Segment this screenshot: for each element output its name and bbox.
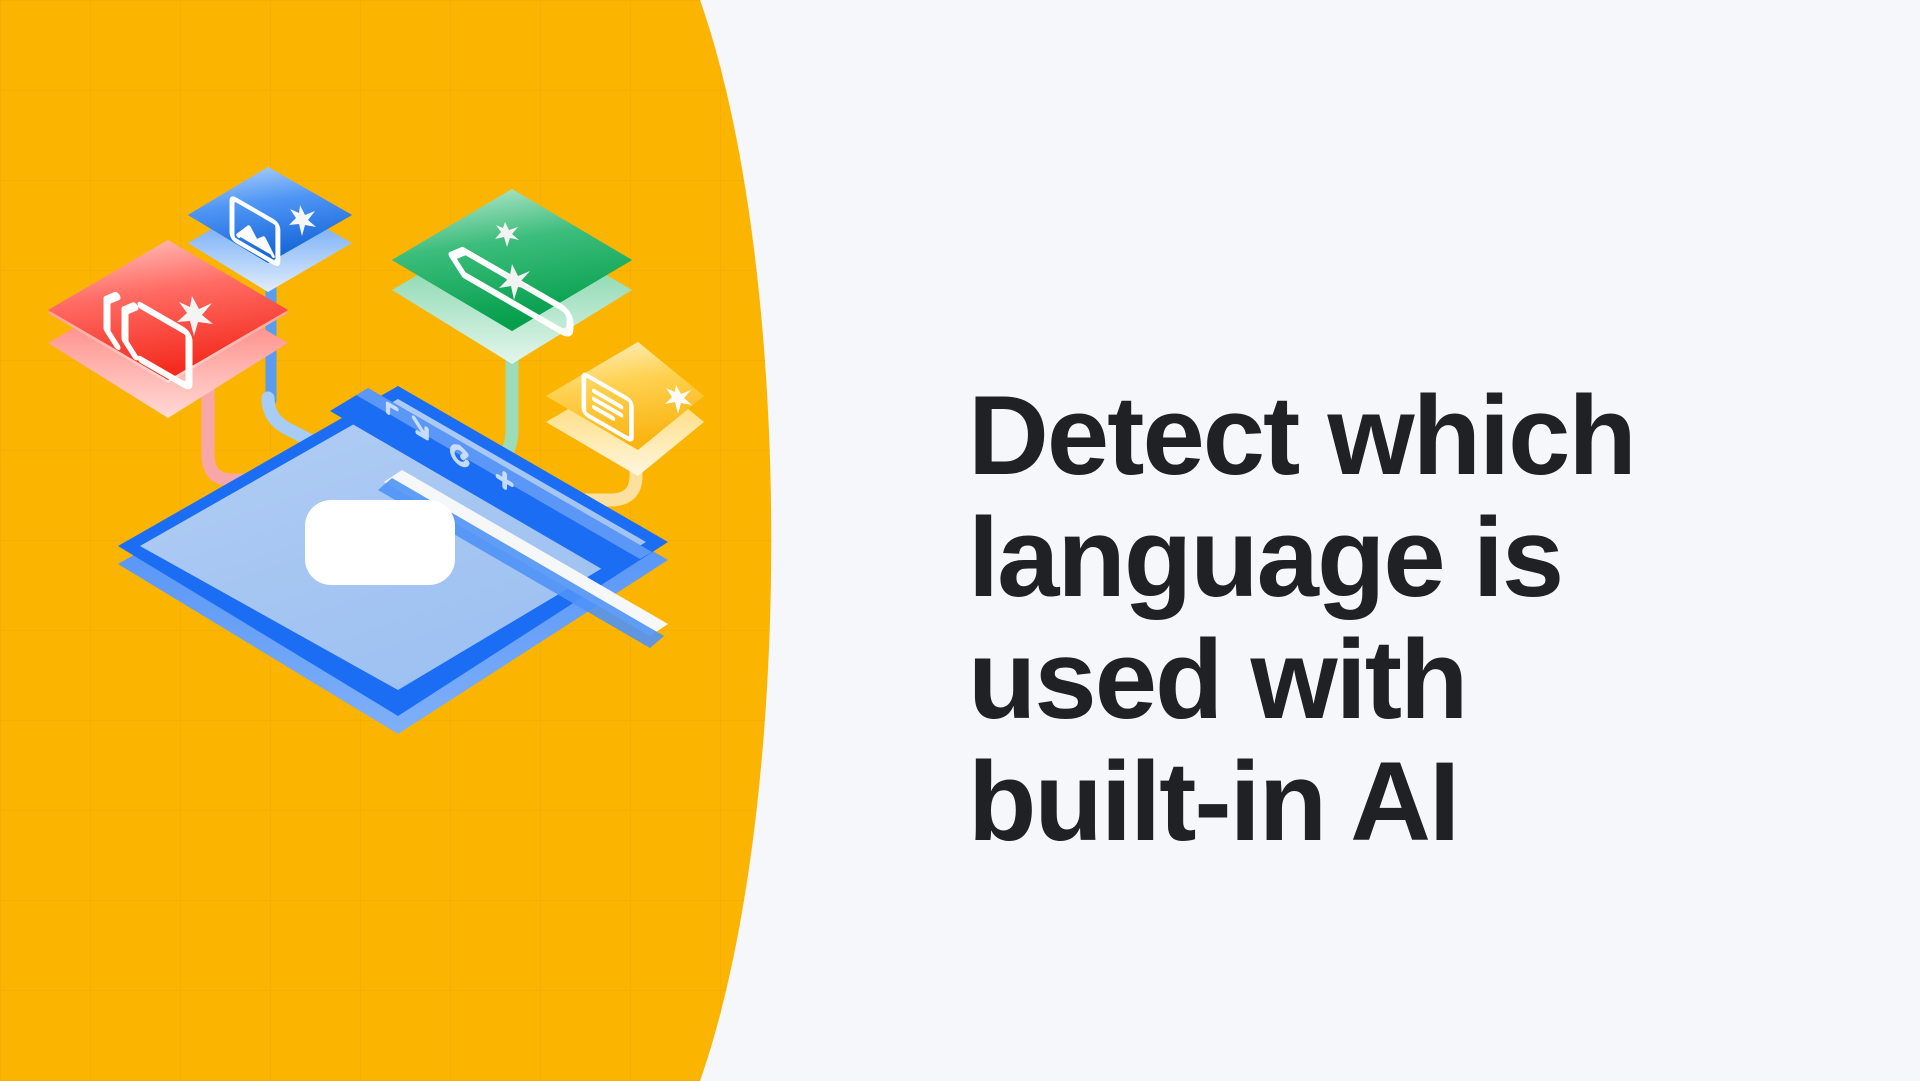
page-title: Detect which language is used with built… [968, 375, 1788, 863]
slide-canvas: Detect which language is used with built… [0, 0, 1920, 1081]
